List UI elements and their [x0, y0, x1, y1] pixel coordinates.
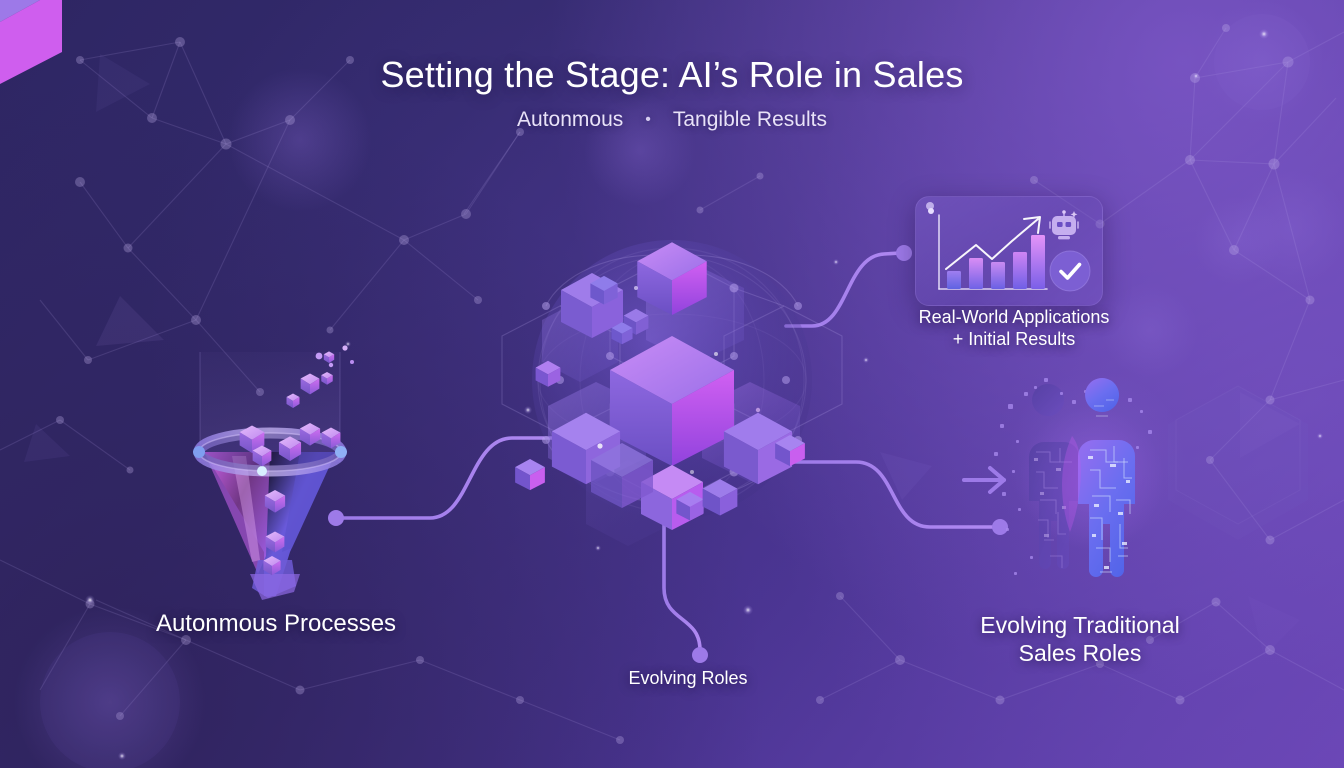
caption-real-world-applications: Real-World Applications + Initial Result…	[896, 307, 1132, 351]
chart-bars	[947, 235, 1045, 289]
results-card[interactable]	[915, 196, 1103, 306]
page-title: Setting the Stage: AI’s Role in Sales	[0, 54, 1344, 96]
card-dot	[928, 208, 934, 214]
subtitle-right: Tangible Results	[673, 108, 827, 132]
subtitle-left: Autonmous	[517, 108, 623, 132]
caption-evolving-traditional-sales-roles: Evolving Traditional Sales Roles	[940, 611, 1220, 667]
check-circle-icon[interactable]	[1048, 249, 1092, 293]
slide-canvas: Setting the Stage: AI’s Role in Sales Au…	[0, 0, 1344, 768]
title-block: Setting the Stage: AI’s Role in Sales Au…	[0, 54, 1344, 132]
caption-autonomous-processes: Autonmous Processes	[96, 610, 456, 638]
subtitle-separator: •	[645, 112, 651, 128]
caption-evolving-roles: Evolving Roles	[568, 668, 808, 689]
subtitle: Autonmous • Tangible Results	[0, 108, 1344, 132]
robot-icon	[1044, 209, 1084, 243]
